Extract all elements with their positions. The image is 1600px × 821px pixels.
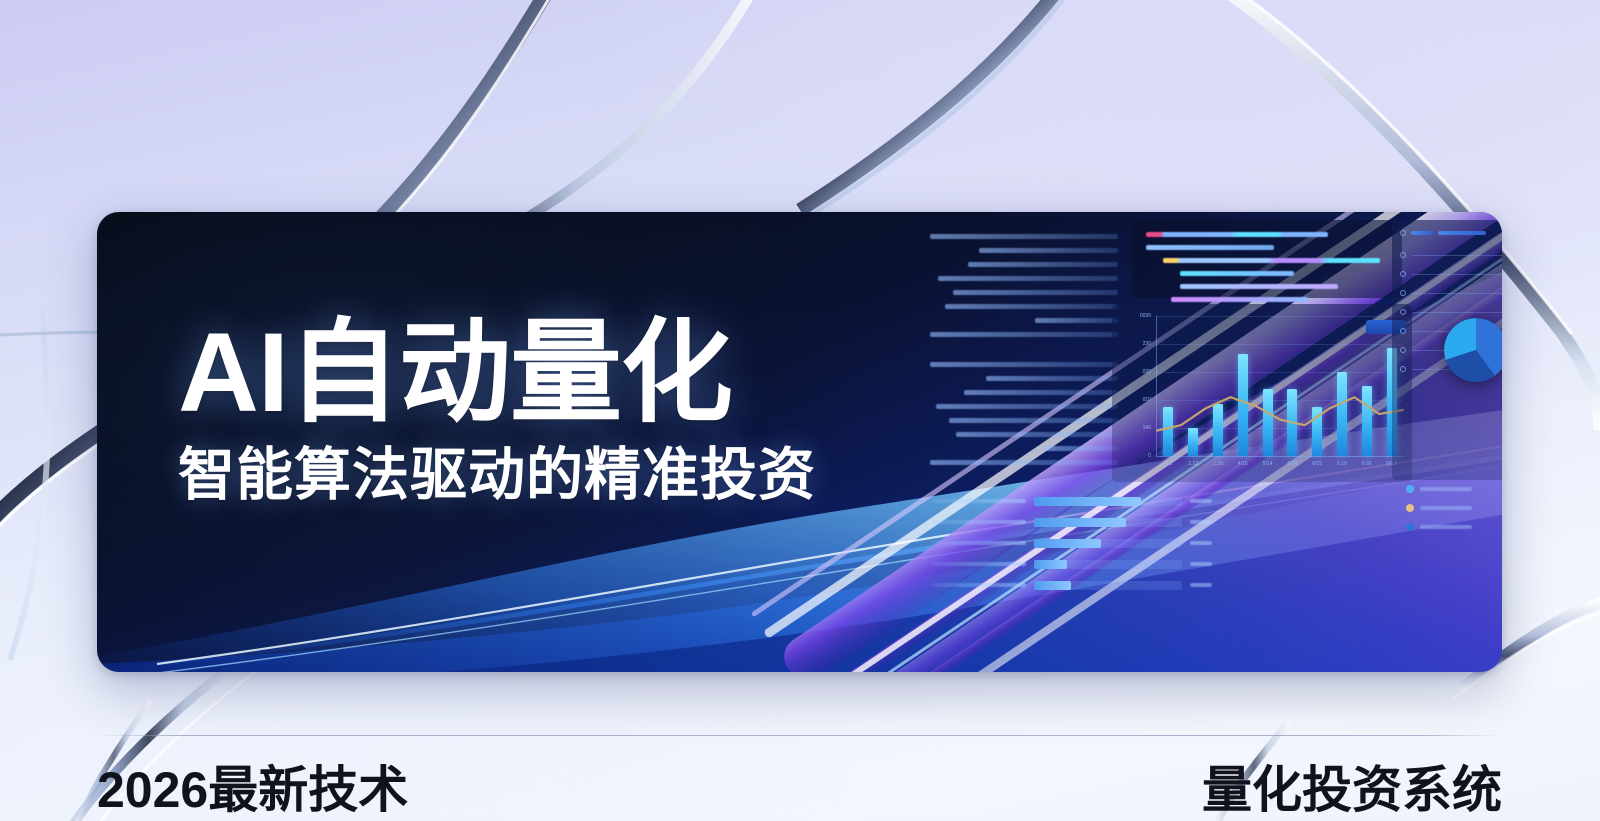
legend-label bbox=[1420, 506, 1472, 510]
hbar-track bbox=[1034, 539, 1182, 548]
hbar-label bbox=[932, 520, 1026, 524]
divider-line bbox=[1412, 255, 1502, 256]
legend-item bbox=[1406, 485, 1472, 493]
hbar-label bbox=[932, 499, 1026, 503]
y-tick: 230 bbox=[1143, 341, 1151, 347]
hbar-fill bbox=[1034, 581, 1071, 590]
ribbon-left-band bbox=[10, 300, 48, 660]
hero-card: 0030 230 020 010 140 0 9/31.131.294/155/… bbox=[97, 212, 1502, 672]
bar-chart-plot: 0030 230 020 010 140 0 9/31.131.294/155/… bbox=[1156, 316, 1404, 456]
hbar-row bbox=[932, 559, 1212, 569]
circle-icon bbox=[1400, 290, 1406, 296]
x-tick: 6/15 bbox=[1312, 461, 1322, 467]
circle-icon bbox=[1400, 271, 1406, 277]
code-window-panel bbox=[1132, 220, 1402, 298]
x-tick: 5.19 bbox=[1337, 461, 1347, 467]
ribbon-top-mid-right bbox=[800, 0, 1080, 210]
x-tick: 5/14 bbox=[1263, 461, 1273, 467]
circle-icon bbox=[1400, 366, 1406, 372]
circle-icon bbox=[1400, 252, 1406, 258]
legend-label bbox=[1420, 525, 1472, 529]
hbar-row bbox=[932, 517, 1212, 527]
legend-swatch bbox=[1406, 523, 1414, 531]
hbar-track bbox=[1034, 560, 1182, 569]
x-tick: 6/04 bbox=[1288, 461, 1298, 467]
sidebar-header bbox=[1400, 230, 1502, 236]
hbar-label bbox=[932, 583, 1026, 587]
circle-icon bbox=[1400, 328, 1406, 334]
code-text-panel bbox=[930, 234, 1118, 474]
legend-item bbox=[1406, 504, 1472, 512]
hbar-value bbox=[1190, 520, 1212, 524]
hbar-label bbox=[932, 562, 1026, 566]
legend-label bbox=[1420, 487, 1472, 491]
hbar-track bbox=[1034, 581, 1182, 590]
bar-chart: 0030 230 020 010 140 0 9/31.131.294/155/… bbox=[1112, 304, 1412, 482]
y-tick: 020 bbox=[1143, 369, 1151, 375]
footer-label-right: 量化投资系统 bbox=[1202, 750, 1502, 821]
hbar-track bbox=[1034, 518, 1182, 527]
circle-icon bbox=[1400, 230, 1406, 236]
sidebar-row bbox=[1400, 252, 1502, 258]
legend-swatch bbox=[1406, 504, 1414, 512]
trend-line bbox=[1156, 316, 1404, 456]
divider-line bbox=[1412, 293, 1502, 294]
hbar-label bbox=[932, 541, 1026, 545]
hbar-value bbox=[1190, 562, 1212, 566]
hbar-value bbox=[1190, 499, 1212, 503]
hbar-fill bbox=[1034, 518, 1126, 527]
hbar-value bbox=[1190, 541, 1212, 545]
hbar-fill bbox=[1034, 497, 1141, 506]
horizontal-bar-chart bbox=[932, 496, 1212, 601]
x-tick: 4/15 bbox=[1238, 461, 1248, 467]
y-tick: 140 bbox=[1143, 425, 1151, 431]
hbar-fill bbox=[1034, 539, 1101, 548]
circle-icon bbox=[1400, 347, 1406, 353]
hbar-row bbox=[932, 580, 1212, 590]
pie-chart bbox=[1438, 312, 1502, 388]
divider-line bbox=[1412, 274, 1502, 275]
x-tick: 6.66 bbox=[1362, 461, 1372, 467]
hbar-fill bbox=[1034, 560, 1067, 569]
sidebar-row bbox=[1400, 271, 1502, 277]
footer-divider bbox=[97, 735, 1500, 736]
y-tick: 010 bbox=[1143, 397, 1151, 403]
pie-legend bbox=[1406, 485, 1472, 542]
legend-item bbox=[1406, 523, 1472, 531]
circle-icon bbox=[1400, 309, 1406, 315]
headline-block: AI自动量化 智能算法驱动的精准投资 bbox=[178, 317, 816, 504]
footer-label-left: 2026最新技术 bbox=[97, 750, 408, 821]
y-tick: 0030 bbox=[1140, 313, 1151, 319]
dashboard-graphic: 0030 230 020 010 140 0 9/31.131.294/155/… bbox=[832, 212, 1502, 672]
y-tick: 0 bbox=[1148, 453, 1151, 459]
hbar-value bbox=[1190, 583, 1212, 587]
divider-line bbox=[1412, 312, 1502, 313]
dashboard-sidebar bbox=[1392, 220, 1502, 480]
x-tick: 1.29 bbox=[1213, 461, 1223, 467]
legend-swatch bbox=[1406, 485, 1414, 493]
page-subtitle: 智能算法驱动的精准投资 bbox=[178, 447, 816, 504]
page-title: AI自动量化 bbox=[178, 317, 816, 429]
hbar-track bbox=[1034, 497, 1182, 506]
x-tick: 1.13 bbox=[1188, 461, 1198, 467]
hbar-row bbox=[932, 496, 1212, 506]
sidebar-row bbox=[1400, 290, 1502, 296]
x-tick: 9/3 bbox=[1165, 461, 1172, 467]
hbar-row bbox=[932, 538, 1212, 548]
